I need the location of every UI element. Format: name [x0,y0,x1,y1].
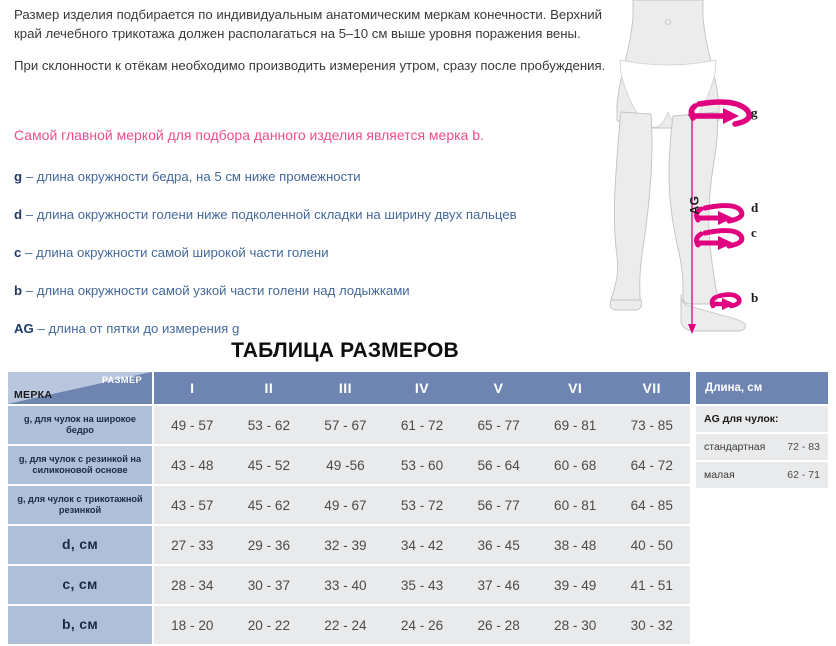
table-row: b, см 18 - 20 20 - 22 22 - 24 24 - 26 26… [8,606,690,644]
column-header-5: V [460,372,537,404]
key-measure-highlight: Самой главной меркой для подбора данного… [14,126,614,144]
cell-r0-c1: 53 - 62 [231,406,308,444]
definition-c: c – длина окружности самой широкой части… [14,244,329,261]
column-header-4: IV [384,372,461,404]
definition-letter-d: d [14,207,22,222]
cell-r3-c3: 34 - 42 [384,526,461,564]
definition-text-ag: длина от пятки до измерения g [48,321,239,336]
figure-label-ag: AG [688,196,702,215]
length-entry-standard-name: стандартная [704,441,787,453]
cell-r5-c3: 24 - 26 [384,606,461,644]
cell-r2-c3: 53 - 72 [384,486,461,524]
cell-r0-c2: 57 - 67 [307,406,384,444]
cell-r1-c6: 64 - 72 [613,446,690,484]
cell-r5-c0: 18 - 20 [154,606,231,644]
row-label-g-silicone: g, для чулок с резинкой на силиконовой о… [8,446,152,484]
definition-dash-ag: – [34,321,49,336]
cell-r5-c6: 30 - 32 [613,606,690,644]
cell-r4-c1: 30 - 37 [231,566,308,604]
cell-r0-c3: 61 - 72 [384,406,461,444]
size-table: РАЗМЕР МЕРКА I II III IV V VI VII g, для… [8,372,690,646]
cell-r2-c5: 60 - 81 [537,486,614,524]
body-silhouette [610,0,745,331]
cell-r2-c6: 64 - 85 [613,486,690,524]
length-entry-small-value: 62 - 71 [787,469,820,481]
cell-r1-c3: 53 - 60 [384,446,461,484]
cell-r3-c0: 27 - 33 [154,526,231,564]
definition-dash-b: – [22,283,37,298]
cell-r4-c3: 35 - 43 [384,566,461,604]
intro-block: Размер изделия подбирается по индивидуал… [14,6,614,90]
definition-text-c: длина окружности самой широкой части гол… [36,245,329,260]
length-panel: Длина, см AG для чулок: стандартная 72 -… [696,372,828,490]
definition-letter-ag: AG [14,321,34,336]
cell-r4-c5: 39 - 49 [537,566,614,604]
leg-measurement-diagram: g d c b AG [595,0,836,340]
cell-r3-c5: 38 - 48 [537,526,614,564]
cell-r5-c1: 20 - 22 [231,606,308,644]
definition-letter-g: g [14,169,22,184]
figure-label-b: b [751,290,758,306]
figure-label-c: c [751,225,757,241]
length-entry-small-name: малая [704,469,787,481]
row-label-b: b, см [8,606,152,644]
table-row: d, см 27 - 33 29 - 36 32 - 39 34 - 42 36… [8,526,690,564]
table-title: ТАБЛИЦА РАЗМЕРОВ [0,339,690,363]
definition-text-g: длина окружности бедра, на 5 см ниже про… [37,169,361,184]
definition-ag: AG – длина от пятки до измерения g [14,320,239,337]
table-header-row: РАЗМЕР МЕРКА I II III IV V VI VII [8,372,690,404]
corner-size-label: РАЗМЕР [102,374,142,385]
definition-g: g – длина окружности бедра, на 5 см ниже… [14,168,361,185]
column-header-7: VII [613,372,690,404]
length-panel-subtitle: AG для чулок: [696,406,828,432]
cell-r1-c1: 45 - 52 [231,446,308,484]
intro-paragraph-2: При склонности к отёкам необходимо произ… [14,57,614,76]
cell-r3-c4: 36 - 45 [460,526,537,564]
definition-letter-b: b [14,283,22,298]
figure-label-g: g [751,105,758,121]
cell-r2-c0: 43 - 57 [154,486,231,524]
row-label-d: d, см [8,526,152,564]
cell-r1-c0: 43 - 48 [154,446,231,484]
table-row: g, для чулок с трикотажной резинкой 43 -… [8,486,690,524]
cell-r3-c1: 29 - 36 [231,526,308,564]
cell-r0-c0: 49 - 57 [154,406,231,444]
body-figure-svg [595,0,836,340]
table-row: g, для чулок на широкое бедро 49 - 57 53… [8,406,690,444]
definition-text-d: длина окружности голени ниже подколенной… [37,207,517,222]
figure-label-d: d [751,200,758,216]
cell-r5-c5: 28 - 30 [537,606,614,644]
intro-paragraph-1: Размер изделия подбирается по индивидуал… [14,6,614,43]
cell-r4-c4: 37 - 46 [460,566,537,604]
column-header-3: III [307,372,384,404]
definition-d: d – длина окружности голени ниже подколе… [14,206,517,223]
row-label-g-knit: g, для чулок с трикотажной резинкой [8,486,152,524]
column-header-1: I [154,372,231,404]
cell-r0-c5: 69 - 81 [537,406,614,444]
cell-r5-c2: 22 - 24 [307,606,384,644]
cell-r4-c0: 28 - 34 [154,566,231,604]
cell-r5-c4: 26 - 28 [460,606,537,644]
cell-r2-c2: 49 - 67 [307,486,384,524]
cell-r4-c2: 33 - 40 [307,566,384,604]
cell-r2-c4: 56 - 77 [460,486,537,524]
definition-dash-c: – [21,245,36,260]
corner-measure-label: МЕРКА [14,389,52,401]
length-entry-small: малая 62 - 71 [696,462,828,488]
cell-r2-c1: 45 - 62 [231,486,308,524]
definition-text-b: длина окружности самой узкой части голен… [37,283,410,298]
measure-ring-b [712,295,739,310]
table-corner-cell: РАЗМЕР МЕРКА [8,372,152,404]
cell-r3-c6: 40 - 50 [613,526,690,564]
cell-r3-c2: 32 - 39 [307,526,384,564]
cell-r0-c6: 73 - 85 [613,406,690,444]
length-panel-subtitle-text: AG для чулок: [704,413,820,425]
definition-b: b – длина окружности самой узкой части г… [14,282,410,299]
cell-r4-c6: 41 - 51 [613,566,690,604]
definition-dash-g: – [22,169,37,184]
column-header-6: VI [537,372,614,404]
table-row: c, см 28 - 34 30 - 37 33 - 40 35 - 43 37… [8,566,690,604]
length-panel-header: Длина, см [696,372,828,404]
length-entry-standard-value: 72 - 83 [787,441,820,453]
row-label-g-wide: g, для чулок на широкое бедро [8,406,152,444]
table-row: g, для чулок с резинкой на силиконовой о… [8,446,690,484]
row-label-c: c, см [8,566,152,604]
cell-r1-c4: 56 - 64 [460,446,537,484]
cell-r0-c4: 65 - 77 [460,406,537,444]
cell-r1-c2: 49 -56 [307,446,384,484]
cell-r1-c5: 60 - 68 [537,446,614,484]
definition-dash-d: – [22,207,37,222]
length-entry-standard: стандартная 72 - 83 [696,434,828,460]
column-header-2: II [231,372,308,404]
